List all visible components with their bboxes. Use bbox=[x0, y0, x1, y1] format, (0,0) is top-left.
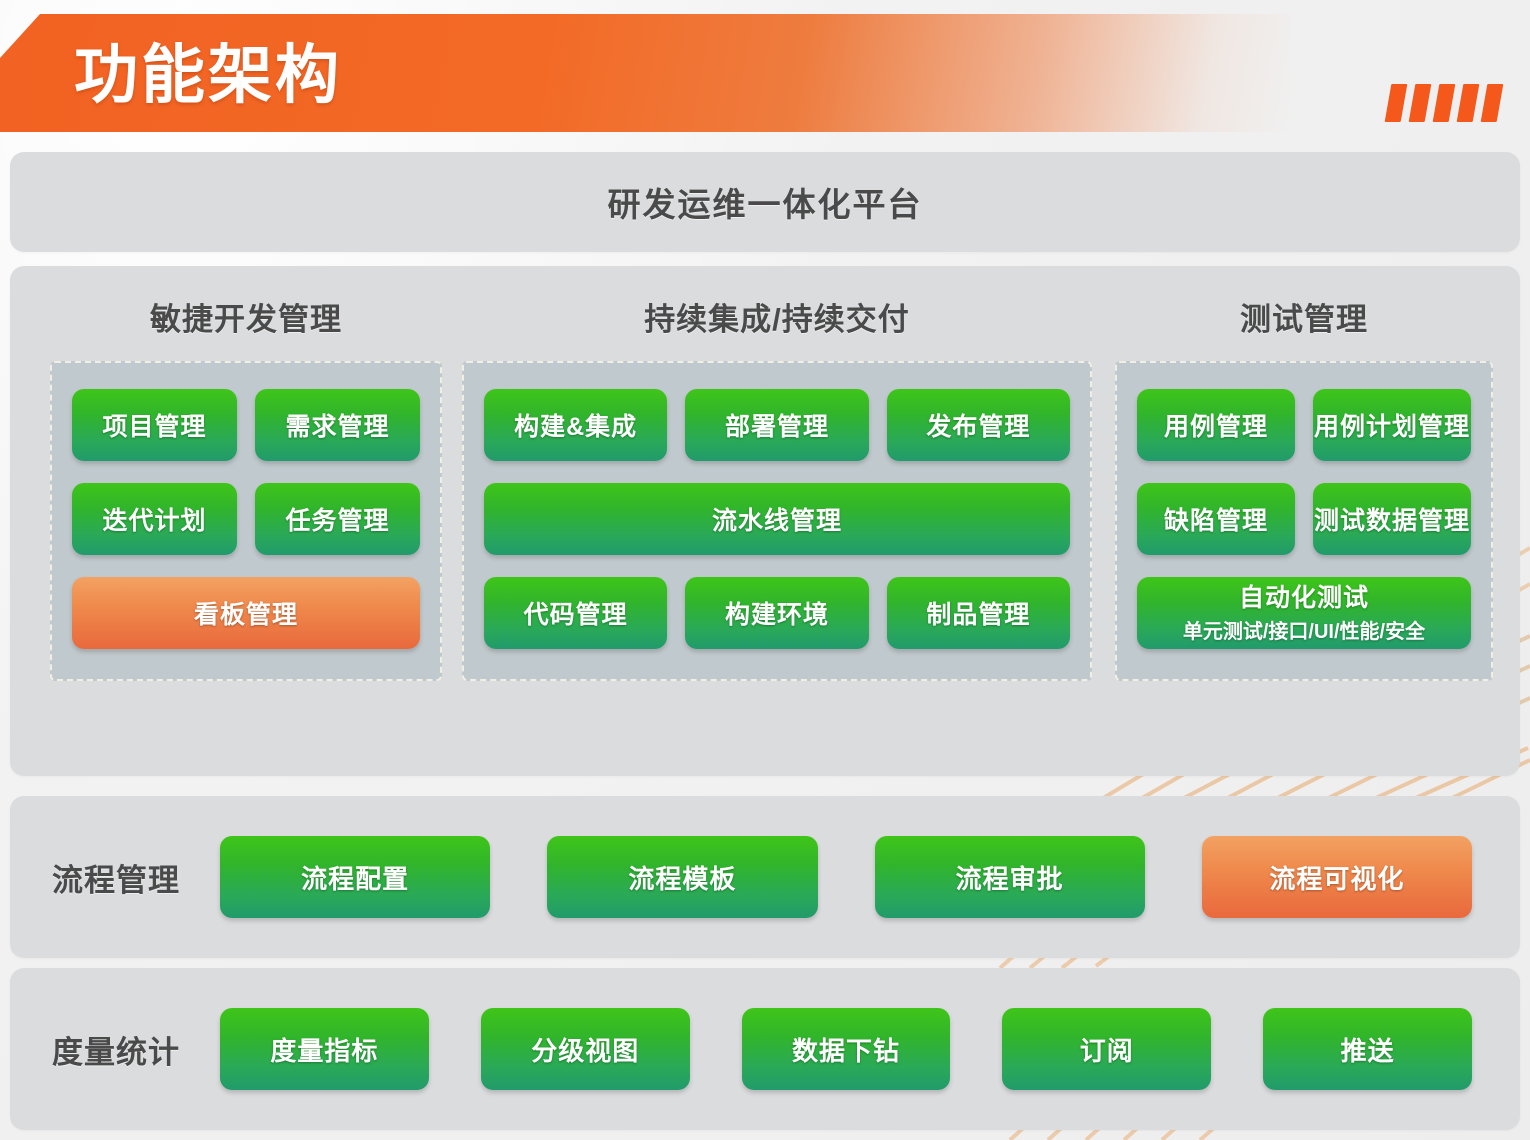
button-row: 用例管理 用例计划管理 bbox=[1137, 389, 1471, 461]
feature-button-code-management[interactable]: 代码管理 bbox=[484, 577, 667, 649]
capability-column-cicd: 持续集成/持续交付 构建&集成 部署管理 发布管理 流水线管理 代码管理 构建环… bbox=[462, 266, 1092, 681]
feature-button-sublabel: 单元测试/接口/UI/性能/安全 bbox=[1183, 615, 1425, 644]
capability-column-agile: 敏捷开发管理 项目管理 需求管理 迭代计划 任务管理 看板管理 bbox=[50, 266, 442, 681]
process-management-panel: 流程管理 流程配置 流程模板 流程审批 流程可视化 bbox=[10, 796, 1520, 958]
metrics-row-label: 度量统计 bbox=[10, 1027, 220, 1072]
feature-button-build-environment[interactable]: 构建环境 bbox=[685, 577, 868, 649]
capability-panel: 敏捷开发管理 项目管理 需求管理 迭代计划 任务管理 看板管理 持续集成/持续交… bbox=[10, 266, 1520, 776]
process-row-label: 流程管理 bbox=[10, 855, 220, 900]
feature-button-iteration-plan[interactable]: 迭代计划 bbox=[72, 483, 237, 555]
feature-button-case-management[interactable]: 用例管理 bbox=[1137, 389, 1295, 461]
feature-button-project-management[interactable]: 项目管理 bbox=[72, 389, 237, 461]
column-body: 项目管理 需求管理 迭代计划 任务管理 看板管理 bbox=[50, 361, 442, 681]
feature-button-task-management[interactable]: 任务管理 bbox=[255, 483, 420, 555]
feature-button-case-plan-management[interactable]: 用例计划管理 bbox=[1313, 389, 1471, 461]
process-button-row: 流程配置 流程模板 流程审批 流程可视化 bbox=[220, 836, 1520, 918]
decor-bar bbox=[1481, 84, 1504, 122]
process-button-approval[interactable]: 流程审批 bbox=[875, 836, 1145, 918]
feature-button-test-data-management[interactable]: 测试数据管理 bbox=[1313, 483, 1471, 555]
header-decor-bars-icon bbox=[1388, 84, 1500, 122]
decor-bar bbox=[1409, 84, 1432, 122]
process-button-visualization[interactable]: 流程可视化 bbox=[1202, 836, 1472, 918]
column-body: 用例管理 用例计划管理 缺陷管理 测试数据管理 自动化测试 单元测试/接口/UI… bbox=[1115, 361, 1493, 681]
feature-button-automated-testing[interactable]: 自动化测试 单元测试/接口/UI/性能/安全 bbox=[1137, 577, 1471, 649]
feature-button-defect-management[interactable]: 缺陷管理 bbox=[1137, 483, 1295, 555]
metrics-button-tiered-view[interactable]: 分级视图 bbox=[481, 1008, 690, 1090]
decor-bar bbox=[1457, 84, 1480, 122]
button-row: 构建&集成 部署管理 发布管理 bbox=[484, 389, 1070, 461]
platform-title: 研发运维一体化平台 bbox=[608, 178, 923, 226]
metrics-button-subscribe[interactable]: 订阅 bbox=[1002, 1008, 1211, 1090]
button-row: 代码管理 构建环境 制品管理 bbox=[484, 577, 1070, 649]
process-button-config[interactable]: 流程配置 bbox=[220, 836, 490, 918]
decor-bar bbox=[1433, 84, 1456, 122]
feature-button-kanban-management[interactable]: 看板管理 bbox=[72, 577, 420, 649]
feature-button-requirement-management[interactable]: 需求管理 bbox=[255, 389, 420, 461]
column-title: 测试管理 bbox=[1115, 294, 1493, 339]
process-button-template[interactable]: 流程模板 bbox=[547, 836, 817, 918]
feature-button-artifact-management[interactable]: 制品管理 bbox=[887, 577, 1070, 649]
button-row: 看板管理 bbox=[72, 577, 420, 649]
decor-bar bbox=[1385, 84, 1408, 122]
button-row: 自动化测试 单元测试/接口/UI/性能/安全 bbox=[1137, 577, 1471, 649]
column-body: 构建&集成 部署管理 发布管理 流水线管理 代码管理 构建环境 制品管理 bbox=[462, 361, 1092, 681]
column-title: 持续集成/持续交付 bbox=[462, 294, 1092, 339]
platform-title-panel: 研发运维一体化平台 bbox=[10, 152, 1520, 252]
metrics-statistics-panel: 度量统计 度量指标 分级视图 数据下钻 订阅 推送 bbox=[10, 968, 1520, 1130]
capability-column-testing: 测试管理 用例管理 用例计划管理 缺陷管理 测试数据管理 自动化测试 单元测试/… bbox=[1115, 266, 1493, 681]
button-row: 迭代计划 任务管理 bbox=[72, 483, 420, 555]
feature-button-label: 自动化测试 bbox=[1239, 583, 1369, 613]
feature-button-deployment-management[interactable]: 部署管理 bbox=[685, 389, 868, 461]
button-row: 缺陷管理 测试数据管理 bbox=[1137, 483, 1471, 555]
metrics-button-indicators[interactable]: 度量指标 bbox=[220, 1008, 429, 1090]
metrics-button-drilldown[interactable]: 数据下钻 bbox=[742, 1008, 951, 1090]
metrics-button-push[interactable]: 推送 bbox=[1263, 1008, 1472, 1090]
feature-button-release-management[interactable]: 发布管理 bbox=[887, 389, 1070, 461]
column-title: 敏捷开发管理 bbox=[50, 294, 442, 339]
button-row: 流水线管理 bbox=[484, 483, 1070, 555]
metrics-button-row: 度量指标 分级视图 数据下钻 订阅 推送 bbox=[220, 1008, 1520, 1090]
feature-button-pipeline-management[interactable]: 流水线管理 bbox=[484, 483, 1070, 555]
feature-button-build-integration[interactable]: 构建&集成 bbox=[484, 389, 667, 461]
page-header: 功能架构 bbox=[0, 14, 1530, 132]
page-title: 功能架构 bbox=[74, 38, 342, 112]
button-row: 项目管理 需求管理 bbox=[72, 389, 420, 461]
